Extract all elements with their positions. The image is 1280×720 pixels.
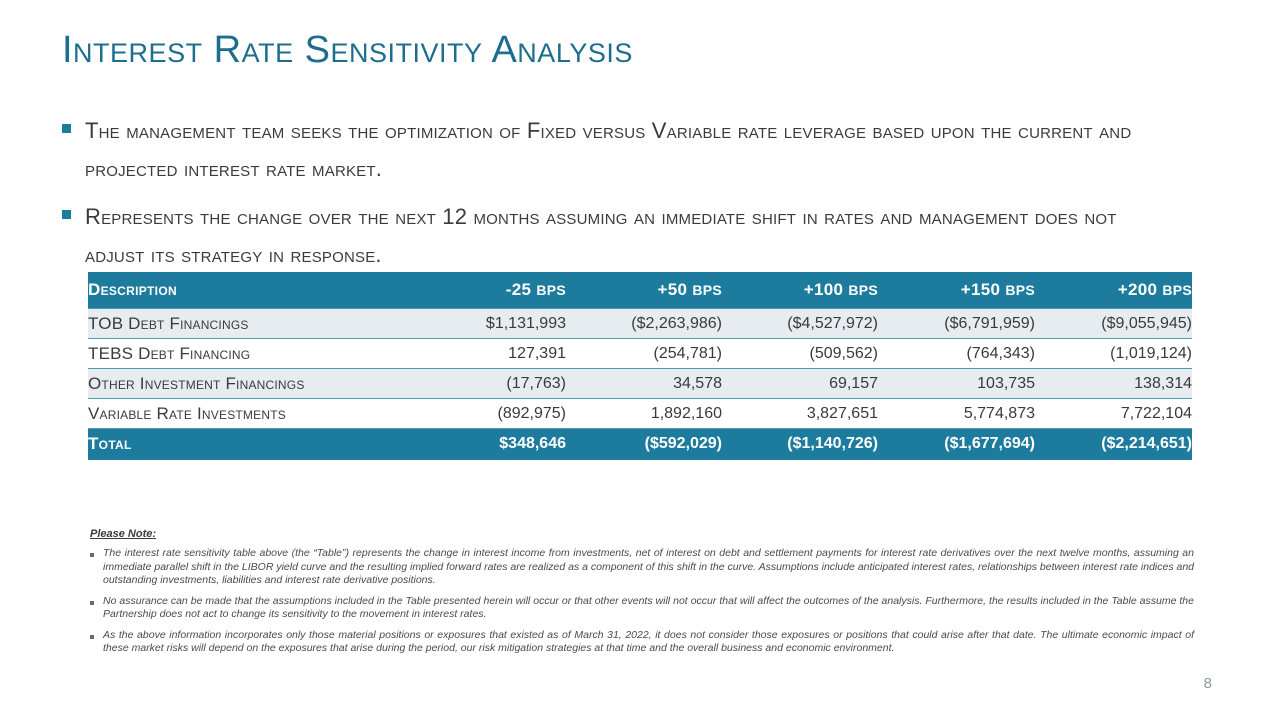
row-value: (17,763) xyxy=(410,369,566,399)
row-value: 34,578 xyxy=(566,369,722,399)
column-header-plus200bps: +200 BPS xyxy=(1035,272,1192,309)
column-header-label: +200 xyxy=(1118,280,1158,299)
table-row: TEBS Debt Financing127,391(254,781)(509,… xyxy=(88,339,1192,369)
row-value: (764,343) xyxy=(878,339,1035,369)
row-value: 69,157 xyxy=(722,369,878,399)
footnote-text: The interest rate sensitivity table abov… xyxy=(103,547,1194,588)
row-value: ($2,263,986) xyxy=(566,309,722,339)
table-row: Variable Rate Investments(892,975)1,892,… xyxy=(88,399,1192,429)
row-value: (892,975) xyxy=(410,399,566,429)
bullet-square-icon xyxy=(62,124,71,133)
row-value: ($6,791,959) xyxy=(878,309,1035,339)
column-header-unit: BPS xyxy=(536,282,566,298)
row-value: 5,774,873 xyxy=(878,399,1035,429)
total-value: ($2,214,651) xyxy=(1035,429,1192,460)
footnotes-section: Please Note: The interest rate sensitivi… xyxy=(90,528,1194,663)
column-header-minus25bps: -25 BPS xyxy=(410,272,566,309)
row-value: ($9,055,945) xyxy=(1035,309,1192,339)
column-header-unit: BPS xyxy=(1005,282,1035,298)
column-header-plus150bps: +150 BPS xyxy=(878,272,1035,309)
page-title: Interest Rate Sensitivity Analysis xyxy=(62,28,633,72)
footnotes-list: The interest rate sensitivity table abov… xyxy=(90,547,1194,656)
table-row: TOB Debt Financings$1,131,993($2,263,986… xyxy=(88,309,1192,339)
bullet-item: Represents the change over the next 12 m… xyxy=(62,198,1162,274)
table-row: Other Investment Financings(17,763)34,57… xyxy=(88,369,1192,399)
column-header-label: +150 xyxy=(961,280,1001,299)
column-header-label: +50 xyxy=(658,280,688,299)
total-label: Total xyxy=(88,429,410,460)
column-header-unit: BPS xyxy=(848,282,878,298)
row-description: TEBS Debt Financing xyxy=(88,339,410,369)
table-body: TOB Debt Financings$1,131,993($2,263,986… xyxy=(88,309,1192,460)
footnotes-heading: Please Note: xyxy=(90,528,1194,540)
total-value: ($1,140,726) xyxy=(722,429,878,460)
page-number: 8 xyxy=(1204,675,1212,692)
column-header-plus50bps: +50 BPS xyxy=(566,272,722,309)
footnote-item: No assurance can be made that the assump… xyxy=(90,595,1194,622)
footnote-bullet-icon xyxy=(90,601,94,605)
column-header-plus100bps: +100 BPS xyxy=(722,272,878,309)
row-value: (254,781) xyxy=(566,339,722,369)
table-header-row: Description -25 BPS +50 BPS +100 BPS +15… xyxy=(88,272,1192,309)
row-description: TOB Debt Financings xyxy=(88,309,410,339)
row-value: ($4,527,972) xyxy=(722,309,878,339)
bullet-square-icon xyxy=(62,210,71,219)
bullet-item: The management team seeks the optimizati… xyxy=(62,112,1162,188)
bullet-text: The management team seeks the optimizati… xyxy=(85,112,1162,188)
interest-rate-sensitivity-table: Description -25 BPS +50 BPS +100 BPS +15… xyxy=(88,272,1192,460)
row-value: $1,131,993 xyxy=(410,309,566,339)
column-header-label: +100 xyxy=(804,280,844,299)
footnote-text: No assurance can be made that the assump… xyxy=(103,595,1194,622)
total-value: $348,646 xyxy=(410,429,566,460)
footnote-bullet-icon xyxy=(90,635,94,639)
footnote-text: As the above information incorporates on… xyxy=(103,629,1194,656)
row-value: 1,892,160 xyxy=(566,399,722,429)
row-value: 3,827,651 xyxy=(722,399,878,429)
bullet-list: The management team seeks the optimizati… xyxy=(62,112,1162,284)
bullet-text: Represents the change over the next 12 m… xyxy=(85,198,1162,274)
row-description: Variable Rate Investments xyxy=(88,399,410,429)
footnote-item: The interest rate sensitivity table abov… xyxy=(90,547,1194,588)
row-value: 127,391 xyxy=(410,339,566,369)
row-value: 138,314 xyxy=(1035,369,1192,399)
row-value: 103,735 xyxy=(878,369,1035,399)
row-value: 7,722,104 xyxy=(1035,399,1192,429)
column-header-unit: BPS xyxy=(692,282,722,298)
column-header-description: Description xyxy=(88,272,410,309)
column-header-label: -25 xyxy=(506,280,531,299)
row-description: Other Investment Financings xyxy=(88,369,410,399)
column-header-unit: BPS xyxy=(1162,282,1192,298)
total-value: ($592,029) xyxy=(566,429,722,460)
footnote-bullet-icon xyxy=(90,553,94,557)
row-value: (509,562) xyxy=(722,339,878,369)
row-value: (1,019,124) xyxy=(1035,339,1192,369)
table-total-row: Total$348,646($592,029)($1,140,726)($1,6… xyxy=(88,429,1192,460)
footnote-item: As the above information incorporates on… xyxy=(90,629,1194,656)
total-value: ($1,677,694) xyxy=(878,429,1035,460)
